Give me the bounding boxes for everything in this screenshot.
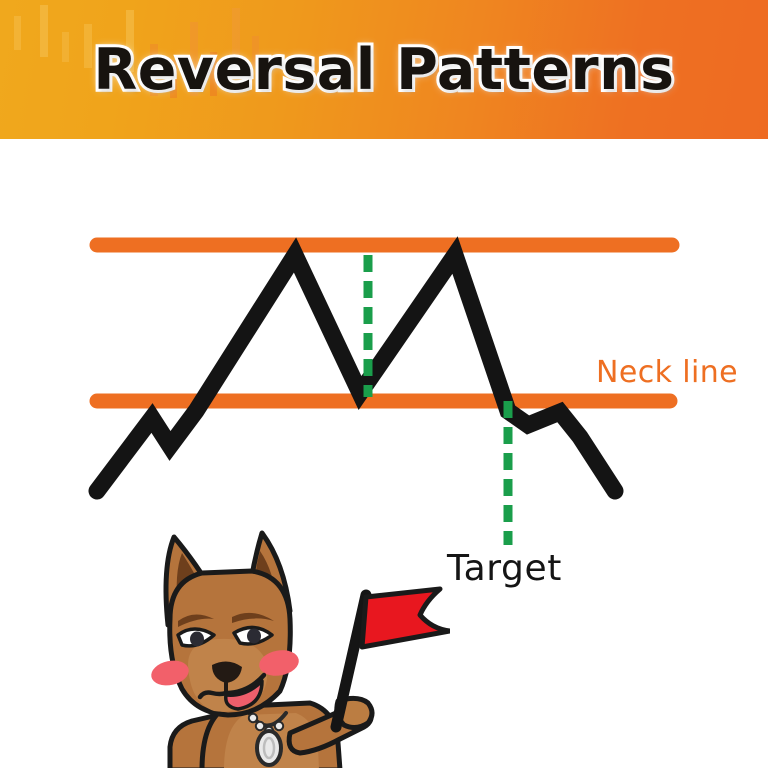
level-lines-group bbox=[97, 245, 672, 401]
dog-left-pupil bbox=[190, 632, 204, 647]
price-line-group bbox=[97, 255, 615, 491]
header-banner: Reversal Patterns bbox=[0, 0, 768, 139]
dog-pendant bbox=[257, 731, 281, 765]
price-line bbox=[97, 255, 615, 491]
header-title-wrap: Reversal Patterns bbox=[0, 0, 768, 139]
dog-right-pupil bbox=[247, 629, 261, 644]
target-label: Target bbox=[447, 551, 562, 587]
flag-icon bbox=[362, 589, 450, 647]
page-title: Reversal Patterns bbox=[93, 42, 674, 99]
dog-mascot bbox=[140, 515, 450, 768]
infographic-canvas: Reversal Patterns Neck line Target bbox=[0, 0, 768, 768]
neck-line-label: Neck line bbox=[596, 358, 738, 388]
